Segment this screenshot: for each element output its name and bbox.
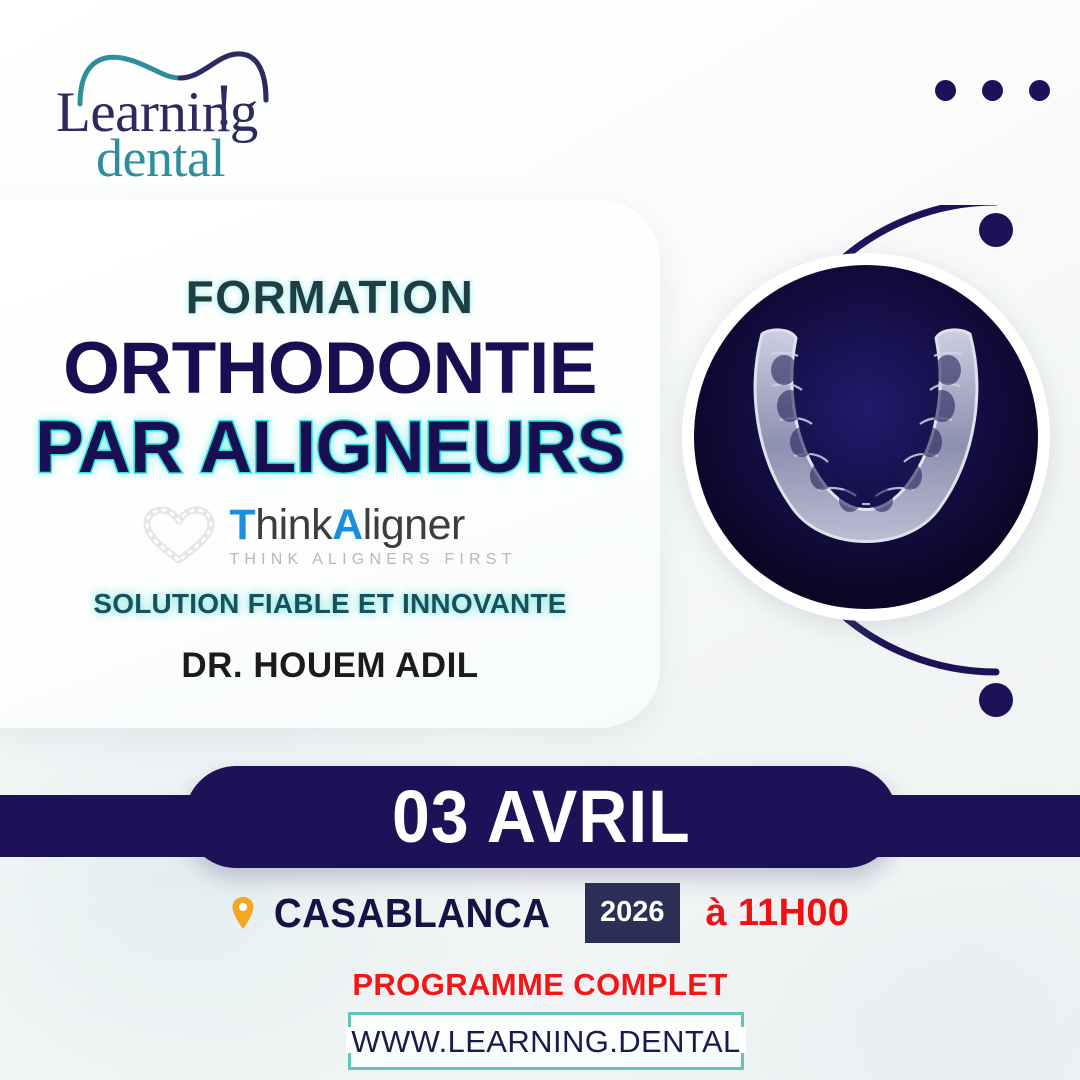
poster-canvas: Learning ! dental FORMATION ORTHODONTIE …: [0, 0, 1080, 1080]
logo-word-dental: dental: [96, 131, 225, 185]
hero-content: FORMATION ORTHODONTIE PAR ALIGNEURS Thin…: [0, 200, 660, 728]
hero-title-line2: PAR ALIGNEURS: [0, 411, 660, 484]
partner-name-hink: hink: [255, 501, 332, 549]
hero-subtitle: SOLUTION FIABLE ET INNOVANTE: [0, 590, 660, 618]
event-time: à 11H00: [706, 894, 850, 932]
event-location: CASABLANCA: [231, 893, 559, 934]
partner-name-t: T: [229, 501, 255, 549]
dot-2: [982, 80, 1003, 101]
teeth-heart-icon: [143, 506, 215, 566]
media-circle: [672, 205, 1072, 725]
dot-3: [1029, 80, 1050, 101]
event-info-row: CASABLANCA 2026 à 11H00: [0, 880, 1080, 946]
hero-card: FORMATION ORTHODONTIE PAR ALIGNEURS Thin…: [0, 200, 660, 728]
dental-aligner-photo: [694, 265, 1038, 609]
event-year: 2026: [585, 883, 680, 943]
date-pill: 03 AVRIL: [185, 766, 897, 868]
map-pin-icon: [231, 896, 255, 930]
hero-eyebrow: FORMATION: [0, 274, 660, 320]
aligner-shape-icon: [732, 324, 1000, 564]
partner-wordmark: ThinkAligner THINK ALIGNERS FIRST: [229, 504, 516, 568]
website-url: WWW.LEARNING.DENTAL: [351, 1026, 740, 1057]
event-date: 03 AVRIL: [392, 780, 691, 854]
partner-name-a: A: [332, 501, 363, 549]
website-url-box[interactable]: WWW.LEARNING.DENTAL: [348, 1012, 744, 1070]
partner-name-ligner: ligner: [363, 501, 465, 549]
dot-1: [935, 80, 956, 101]
logo-exclamation: !: [214, 75, 234, 135]
partner-tagline: THINK ALIGNERS FIRST: [229, 552, 516, 568]
hero-title-line1: ORTHODONTIE: [0, 332, 660, 405]
three-dots-icon: [935, 80, 1050, 101]
brand-logo[interactable]: Learning ! dental: [28, 48, 288, 178]
partner-logo: ThinkAligner THINK ALIGNERS FIRST: [0, 504, 660, 568]
event-city: CASABLANCA: [274, 893, 551, 934]
programme-label: PROGRAMME COMPLET: [0, 969, 1080, 1000]
partner-name: ThinkAligner: [229, 504, 516, 547]
speaker-name: DR. HOUEM ADIL: [0, 648, 660, 683]
